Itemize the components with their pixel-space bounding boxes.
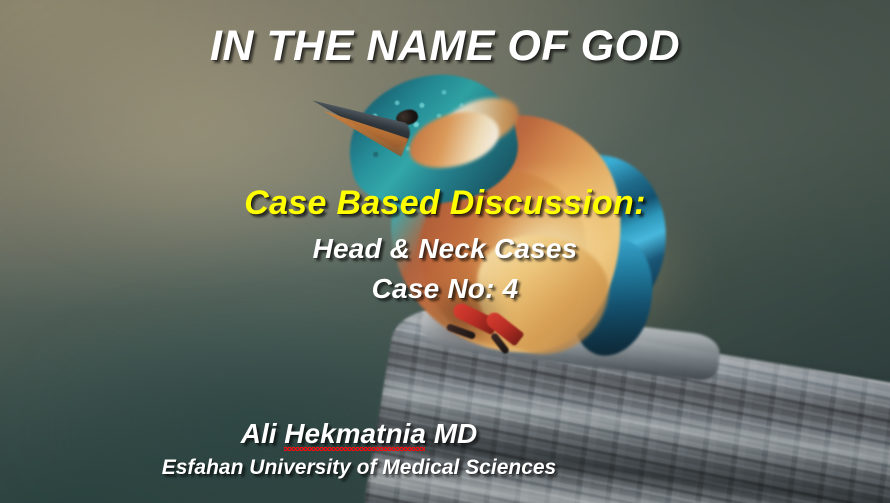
subtitle-block: Case Based Discussion: Head & Neck Cases… [0,186,890,305]
subtitle-case-number: Case No: 4 [0,273,890,305]
presenter-first-name: Ali [241,418,285,449]
credit-block: Ali Hekmatnia MD Esfahan University of M… [0,418,718,480]
slide-text-layer: IN THE NAME OF GOD Case Based Discussion… [0,0,890,503]
presenter-name: Ali Hekmatnia MD [0,418,718,450]
subtitle-heading: Case Based Discussion: [0,186,890,220]
presenter-credential: MD [426,418,477,449]
title-slide: IN THE NAME OF GOD Case Based Discussion… [0,0,890,503]
subtitle-topic: Head & Neck Cases [0,233,890,265]
slide-title: IN THE NAME OF GOD [0,22,890,71]
presenter-surname-misspelled: Hekmatnia [284,418,426,450]
presenter-affiliation: Esfahan University of Medical Sciences [0,456,718,480]
